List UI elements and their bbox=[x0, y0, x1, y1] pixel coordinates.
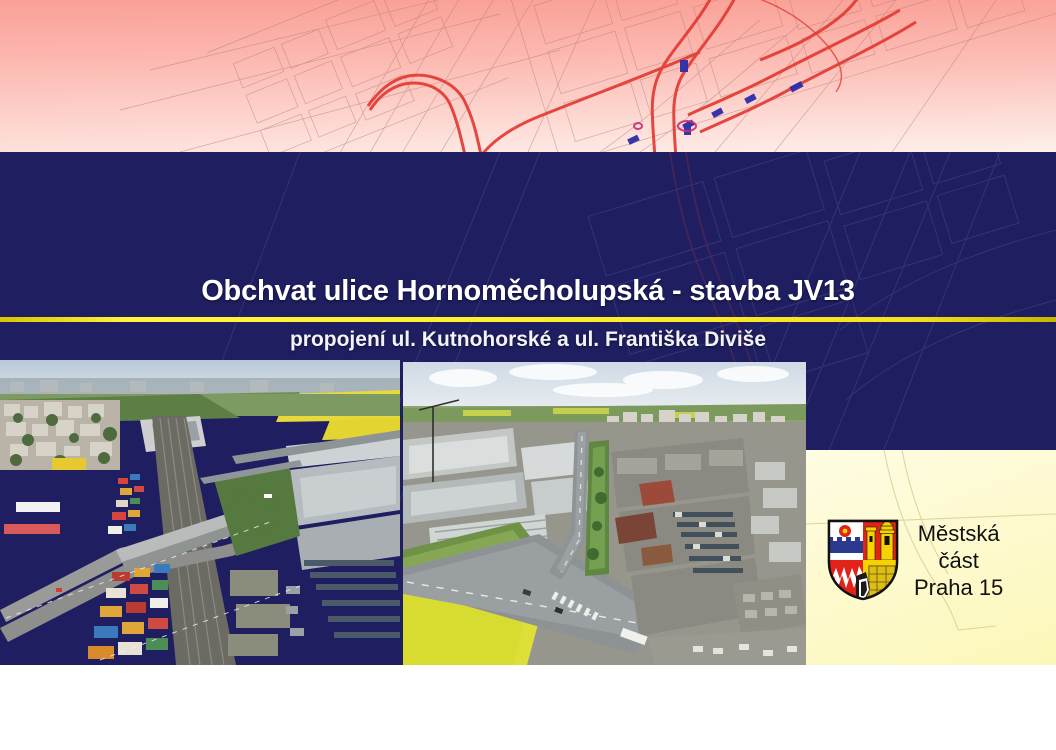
page-subtitle: propojení ul. Kutnohorské a ul. Františk… bbox=[0, 327, 1056, 353]
logo-line-2: část bbox=[914, 547, 1003, 574]
municipality-logo: Městská část Praha 15 bbox=[826, 518, 1003, 602]
top-plan-banner bbox=[0, 0, 1056, 152]
aerial-photo-right-image bbox=[403, 362, 806, 665]
title-block: Obchvat ulice Hornoměcholupská - stavba … bbox=[0, 274, 1056, 308]
coat-of-arms-prague-15-icon bbox=[826, 518, 900, 602]
logo-line-3: Praha 15 bbox=[914, 574, 1003, 601]
plan-drawing-top bbox=[0, 0, 1056, 152]
yellow-divider-rule bbox=[0, 317, 1056, 322]
bottom-white-area bbox=[0, 665, 1056, 750]
aerial-photo-left bbox=[0, 360, 400, 665]
poster-root: Obchvat ulice Hornoměcholupská - stavba … bbox=[0, 0, 1056, 750]
logo-panel: Městská část Praha 15 bbox=[806, 450, 1056, 665]
page-title: Obchvat ulice Hornoměcholupská - stavba … bbox=[0, 274, 1056, 308]
aerial-photo-right bbox=[403, 362, 806, 665]
logo-line-1: Městská bbox=[914, 520, 1003, 547]
logo-text-block: Městská část Praha 15 bbox=[914, 520, 1003, 601]
aerial-photo-left-image bbox=[0, 360, 400, 665]
